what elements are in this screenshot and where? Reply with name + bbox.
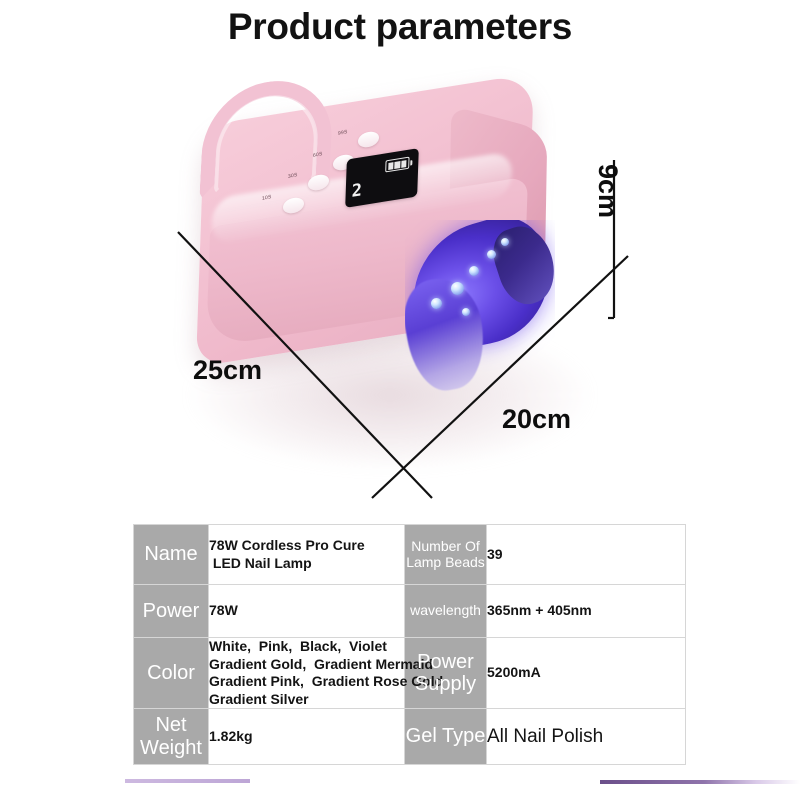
battery-icon bbox=[385, 157, 409, 173]
spec-table: Name 78W Cordless Pro Cure LED Nail Lamp… bbox=[133, 524, 686, 765]
lcd-timer-digits: 2 bbox=[351, 182, 363, 201]
spec-value-net-weight: 1.82kg bbox=[209, 709, 405, 765]
spec-value-color: White, Pink, Black, Violet Gradient Gold… bbox=[209, 638, 405, 709]
bottom-edge-strip-left bbox=[125, 779, 250, 783]
spec-label-power-supply: PowerSupply bbox=[405, 638, 487, 709]
spec-value-wavelength: 365nm + 405nm bbox=[487, 585, 686, 638]
dimension-label-depth: 20cm bbox=[502, 404, 571, 435]
spec-label-lamp-beads: Number OfLamp Beads bbox=[405, 525, 487, 585]
table-row: Name 78W Cordless Pro Cure LED Nail Lamp… bbox=[134, 525, 686, 585]
led-bead bbox=[431, 298, 442, 309]
spec-label-gel-type: Gel Type bbox=[405, 709, 487, 765]
led-bead bbox=[487, 250, 496, 259]
spec-value-gel-type: All Nail Polish bbox=[487, 709, 686, 765]
bottom-edge-strip-right bbox=[600, 780, 800, 784]
spec-label-name: Name bbox=[134, 525, 209, 585]
spec-value-power: 78W bbox=[209, 585, 405, 638]
led-bead bbox=[469, 266, 479, 276]
spec-label-net-weight: NetWeight bbox=[134, 709, 209, 765]
spec-value-lamp-beads: 39 bbox=[487, 525, 686, 585]
table-row: Power 78W wavelength 365nm + 405nm bbox=[134, 585, 686, 638]
spec-label-color: Color bbox=[134, 638, 209, 709]
spec-value-power-supply: 5200mA bbox=[487, 638, 686, 709]
spec-value-name: 78W Cordless Pro Cure LED Nail Lamp bbox=[209, 525, 405, 585]
led-bead bbox=[462, 308, 470, 316]
product-image: 10S 30S 60S 99S 2 bbox=[150, 70, 670, 510]
spec-label-wavelength: wavelength bbox=[405, 585, 487, 638]
led-bead bbox=[501, 238, 509, 246]
spec-label-power: Power bbox=[134, 585, 209, 638]
led-bead bbox=[451, 282, 464, 295]
table-row: Color White, Pink, Black, Violet Gradien… bbox=[134, 638, 686, 709]
dimension-label-height: 9cm bbox=[592, 164, 623, 218]
dimension-label-width: 25cm bbox=[193, 355, 262, 386]
table-row: NetWeight 1.82kg Gel Type All Nail Polis… bbox=[134, 709, 686, 765]
uv-light-cavity bbox=[405, 220, 555, 395]
page-title: Product parameters bbox=[0, 6, 800, 48]
